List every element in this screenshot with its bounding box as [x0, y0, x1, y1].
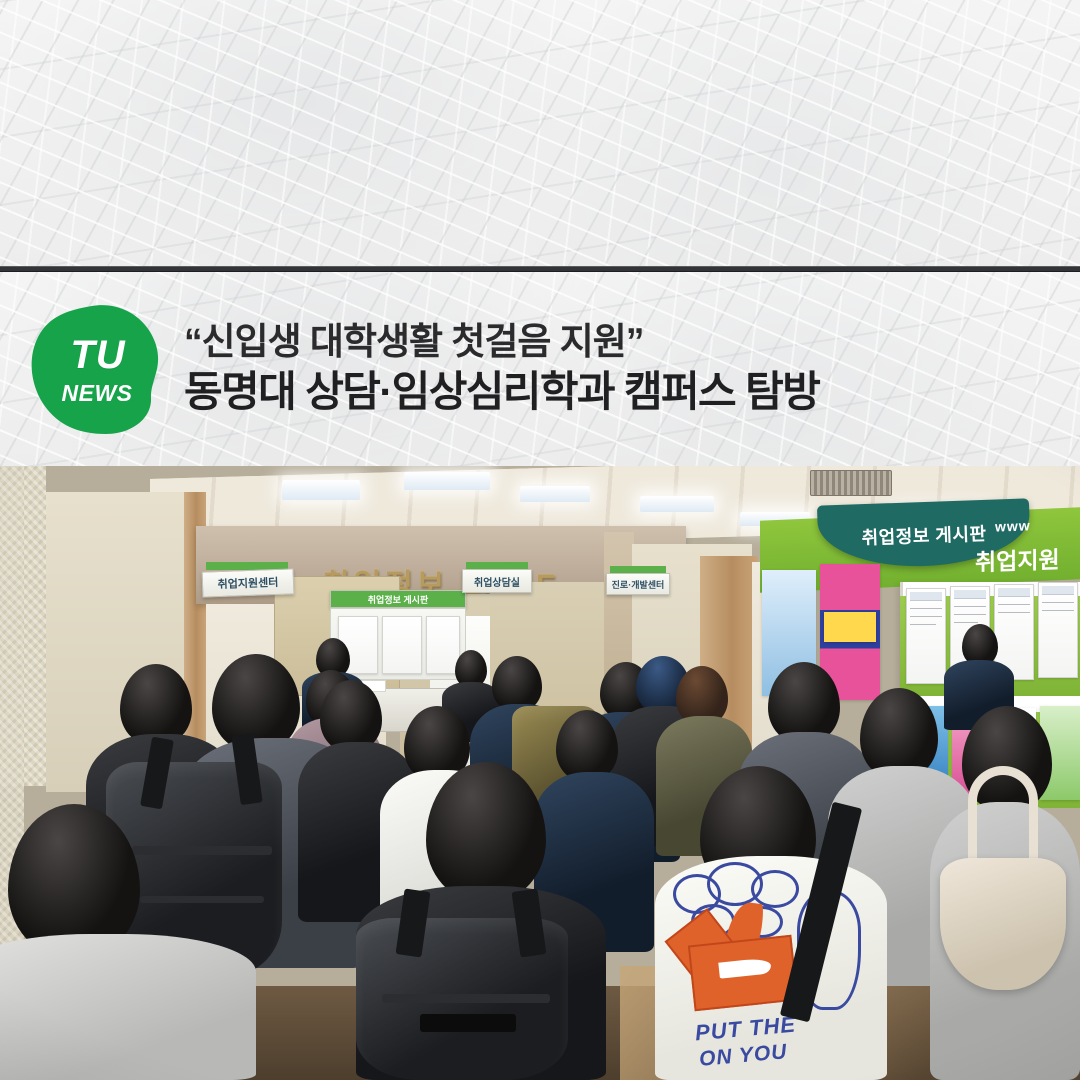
plaque-counseling-room: 취업상담실 [462, 569, 532, 593]
plaque-hanger [466, 562, 528, 569]
ceiling-light [404, 472, 490, 490]
headline-block: TU NEWS “신입생 대학생활 첫걸음 지원” 동명대 상담·임상심리학과 … [0, 272, 1080, 466]
backpack-detail [140, 896, 264, 903]
headline-line-2: 동명대 상담·임상심리학과 캠퍼스 탐방 [184, 366, 819, 417]
paper-texture-top [0, 0, 1080, 268]
news-photo: 취업정보 ZONE 취업정보 게시판 취업지원센터 취업상담실 진로·개발센터 … [0, 466, 1080, 1080]
backpack-detail [382, 994, 550, 1003]
nike-tshirt: PUT THE ON YOU [655, 856, 887, 1080]
doc-line [910, 624, 936, 625]
handbag-strap [968, 766, 1038, 870]
doc-line [954, 622, 978, 623]
banner-label-text: 취업지원 [975, 541, 1060, 578]
doc-line [998, 604, 1030, 605]
job-posting-doc [906, 588, 946, 684]
doc-line [954, 606, 986, 607]
doc-line [910, 616, 942, 617]
job-posting-doc [1038, 582, 1078, 678]
plaque-career-center: 진로·개발센터 [606, 573, 670, 595]
backpack-logo-patch [420, 1014, 516, 1032]
doc-header [1042, 586, 1074, 595]
news-card: TU NEWS “신입생 대학생활 첫걸음 지원” 동명대 상담·임상심리학과 … [0, 0, 1080, 1080]
backpack-detail [132, 846, 272, 855]
doc-line [998, 612, 1030, 613]
doc-header [998, 588, 1030, 597]
notice-doc [382, 616, 422, 674]
poster-highlight [824, 612, 876, 642]
doc-line [1042, 602, 1074, 603]
doc-header [954, 590, 986, 599]
ceiling-light [282, 480, 360, 500]
plaque-board-title: 취업정보 게시판 [330, 590, 466, 608]
puff-cloud [751, 870, 799, 908]
ceiling-light [520, 486, 590, 502]
doc-line [1042, 610, 1074, 611]
tu-news-logo[interactable]: TU NEWS [30, 303, 162, 435]
banner-url-text: www [995, 517, 1031, 534]
headline-text-group: “신입생 대학생활 첫걸음 지원” 동명대 상담·임상심리학과 캠퍼스 탐방 [184, 319, 819, 419]
doc-line [954, 614, 986, 615]
logo-blob-shape [30, 303, 162, 435]
ac-vent [810, 470, 892, 496]
ceiling-light [640, 496, 714, 512]
plaque-hanger [610, 566, 666, 573]
person-body-hoodie [0, 934, 256, 1080]
doc-header [910, 592, 942, 601]
doc-line [910, 608, 942, 609]
headline-line-1: “신입생 대학생활 첫걸음 지원” [184, 319, 819, 364]
plaque-employment-support-center: 취업지원센터 [202, 568, 295, 597]
handbag [940, 858, 1066, 990]
